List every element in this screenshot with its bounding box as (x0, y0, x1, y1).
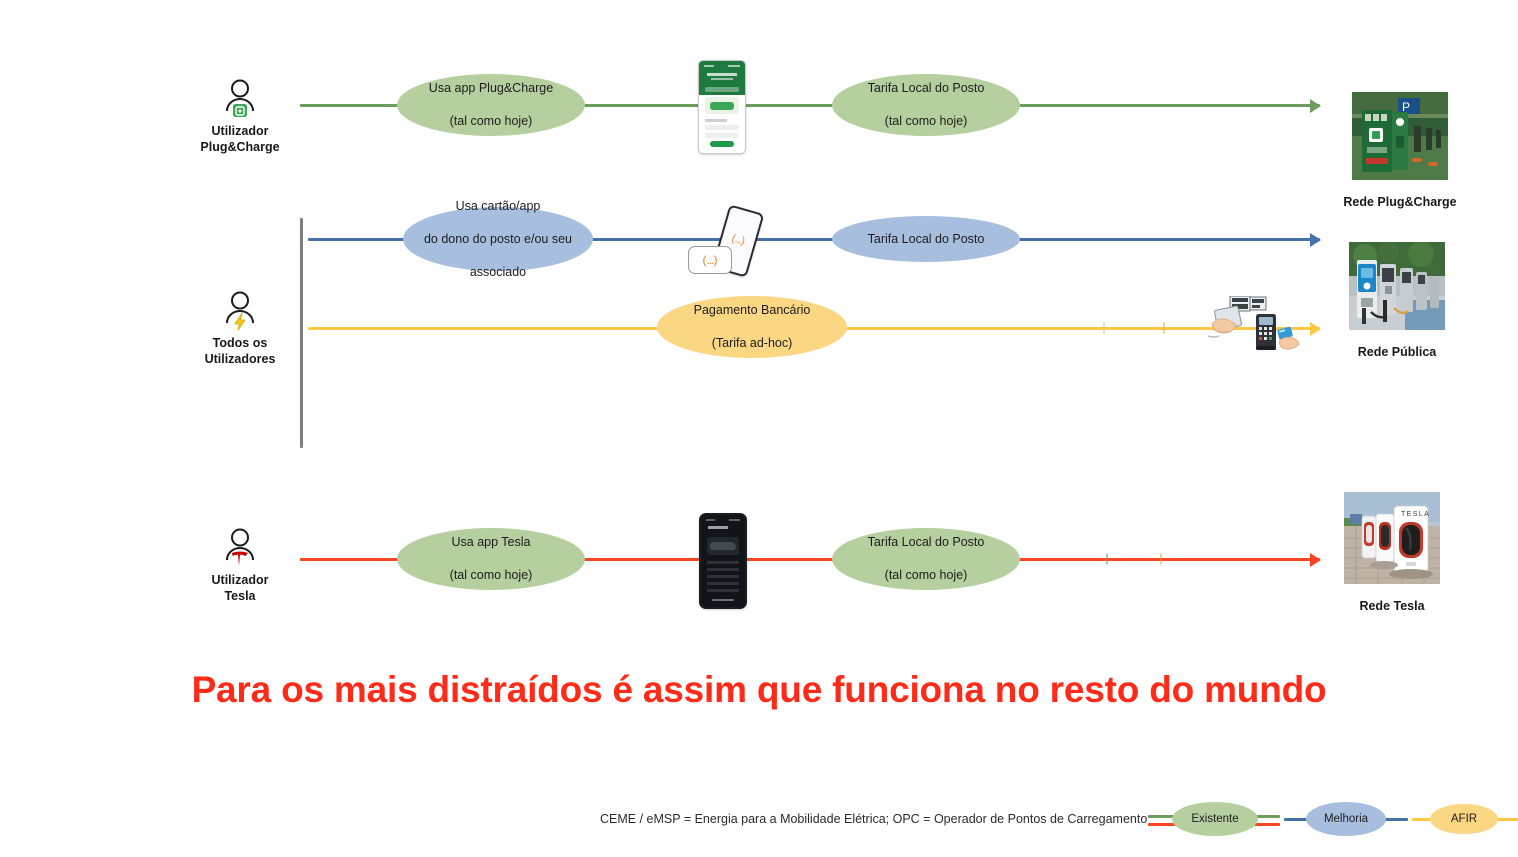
person-with-tesla-icon (223, 527, 257, 567)
svg-text:P: P (1402, 100, 1410, 114)
persona-label-line2: Plug&Charge (200, 140, 279, 154)
legend-item-existente[interactable]: Existente (1148, 798, 1284, 840)
svg-text:TESLA: TESLA (1401, 511, 1430, 518)
slide-canvas: Utilizador Plug&Charge Usa app Plug&Char… (0, 0, 1518, 857)
step-ellipse-usa-app-tesla[interactable]: Usa app Tesla (tal como hoje) (397, 528, 585, 590)
persona-tesla: Utilizador Tesla (180, 527, 300, 604)
all-users-bracket (300, 218, 303, 448)
step-label-line3: associado (414, 264, 582, 281)
network-label: Rede Tesla (1359, 599, 1424, 613)
pos-terminal-icon (1256, 314, 1276, 350)
tariff-label-line2: (tal como hoje) (858, 113, 995, 130)
tariff-label-line1: Tarifa Local do Posto (858, 80, 995, 97)
tariff-ellipse-tesla[interactable]: Tarifa Local do Posto (tal como hoje) (832, 528, 1020, 590)
tariff-ellipse-plug-and-charge[interactable]: Tarifa Local do Posto (tal como hoje) (832, 74, 1020, 136)
step-label-line1: Pagamento Bancário (684, 302, 821, 319)
step-label-line2: (tal como hoje) (440, 567, 543, 584)
plug-and-charge-app-phone (698, 60, 746, 154)
persona-label-line1: Todos os (213, 336, 268, 350)
network-image-frame: P (1344, 84, 1456, 188)
persona-label-line1: Utilizador (212, 573, 269, 587)
legend-label: AFIR (1451, 813, 1477, 825)
legend-label: Existente (1191, 813, 1238, 825)
legend-label: Melhoria (1324, 813, 1368, 825)
persona-label: Todos os Utilizadores (205, 336, 276, 367)
step-label-line2: (Tarifa ad-hoc) (684, 335, 821, 352)
tesla-superchargers-photo: TESLA (1344, 492, 1440, 584)
network-label: Rede Plug&Charge (1343, 195, 1456, 209)
pos-terminal-and-card (1208, 296, 1300, 358)
public-chargers-photo (1349, 242, 1445, 330)
lane-tick-yellow (1163, 323, 1165, 334)
lane-tick-green (1106, 554, 1108, 565)
contactless-phone-and-card: (...) (...) (688, 208, 768, 280)
legend-item-melhoria[interactable]: Melhoria (1284, 798, 1412, 840)
footnote: CEME / eMSP = Energia para a Mobilidade … (600, 812, 1147, 826)
legend-ellipse-melhoria: Melhoria (1306, 802, 1386, 836)
persona-plug-and-charge: Utilizador Plug&Charge (180, 78, 300, 155)
tariff-label-line1: Tarifa Local do Posto (858, 231, 995, 248)
lane-tick-green (1103, 323, 1105, 334)
person-with-charge-badge-icon (223, 78, 257, 118)
network-card-rede-plug-and-charge[interactable]: P (1335, 84, 1465, 209)
step-ellipse-usa-cartao-app[interactable]: Usa cartão/app do dono do posto e/ou seu… (403, 207, 593, 271)
tariff-label-line1: Tarifa Local do Posto (858, 534, 995, 551)
network-image-frame: TESLA (1336, 484, 1448, 592)
tariff-label-line2: (tal como hoje) (858, 567, 995, 584)
persona-label-line2: Tesla (224, 589, 255, 603)
persona-all-users: Todos os Utilizadores (180, 290, 300, 367)
step-ellipse-usa-app-plug-and-charge[interactable]: Usa app Plug&Charge (tal como hoje) (397, 74, 585, 136)
step-label-line1: Usa app Tesla (440, 534, 543, 551)
plug-and-charge-chargers-photo: P (1352, 92, 1448, 180)
network-image-frame (1341, 234, 1453, 338)
step-label-line2: do dono do posto e/ou seu (414, 231, 582, 248)
network-card-rede-tesla[interactable]: TESLA Rede Tesla (1327, 484, 1457, 613)
persona-label: Utilizador Plug&Charge (200, 124, 279, 155)
persona-label-line1: Utilizador (212, 124, 269, 138)
hand-with-phone-icon (1208, 306, 1242, 337)
step-label-line1: Usa cartão/app (414, 198, 582, 215)
step-label-line2: (tal como hoje) (419, 113, 563, 130)
step-label-line1: Usa app Plug&Charge (419, 80, 563, 97)
contactless-card-icon: (...) (688, 246, 732, 274)
legend-item-afir[interactable]: AFIR (1412, 798, 1518, 840)
page-title: Para os mais distraídos é assim que func… (0, 669, 1518, 711)
tariff-ellipse-public[interactable]: Tarifa Local do Posto (832, 216, 1020, 262)
legend: Existente Melhoria AFIR (1148, 798, 1518, 840)
hand-with-card-icon (1277, 326, 1299, 349)
persona-label-line2: Utilizadores (205, 352, 276, 366)
legend-ellipse-existente: Existente (1172, 802, 1258, 836)
network-card-rede-publica[interactable]: Rede Pública (1332, 234, 1462, 359)
network-label: Rede Pública (1358, 345, 1437, 359)
person-with-bolt-icon (223, 290, 257, 330)
step-ellipse-pagamento-bancario[interactable]: Pagamento Bancário (Tarifa ad-hoc) (657, 296, 847, 358)
legend-ellipse-afir: AFIR (1430, 804, 1498, 834)
persona-label: Utilizador Tesla (212, 573, 269, 604)
lane-tick-yellow (1160, 554, 1162, 565)
tesla-app-phone (699, 513, 747, 609)
